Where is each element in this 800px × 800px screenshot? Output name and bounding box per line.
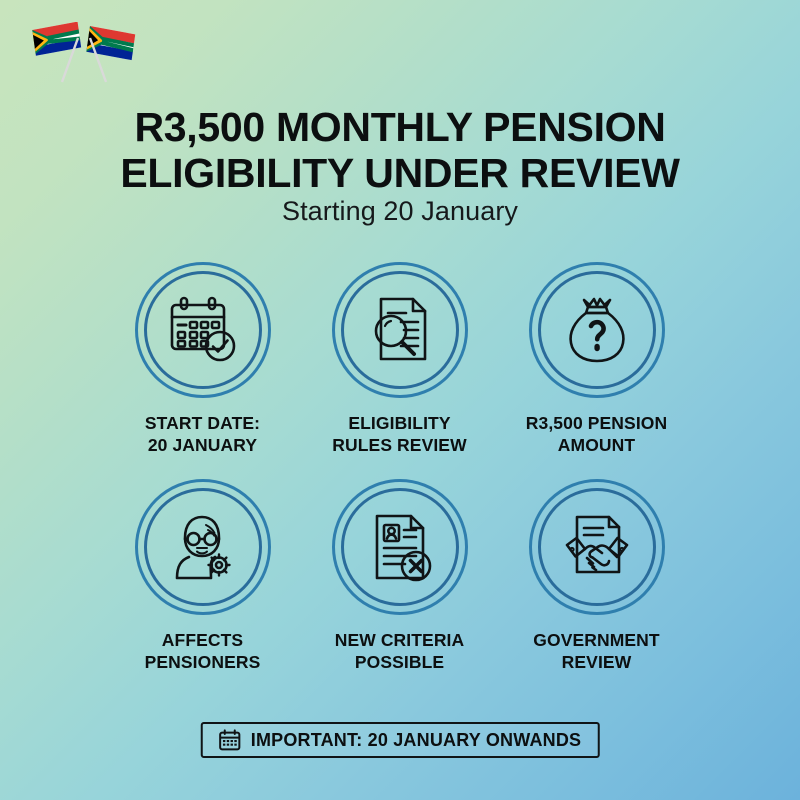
page-title: R3,500 MONTHLY PENSION ELIGIBILITY UNDER… <box>60 105 740 195</box>
feature-caption: START DATE: 20 JANUARY <box>145 412 260 457</box>
feature-caption: ELIGIBILITY RULES REVIEW <box>332 412 466 457</box>
feature-card-new-criteria: NEW CRITERIA POSSIBLE <box>301 479 498 674</box>
elderly-person-gear-icon <box>164 508 242 586</box>
icon-badge <box>332 479 468 615</box>
money-bag-question-icon <box>558 291 636 369</box>
calendar-icon <box>219 729 241 751</box>
infographic-poster: R3,500 MONTHLY PENSION ELIGIBILITY UNDER… <box>0 0 800 800</box>
feature-caption: AFFECTS PENSIONERS <box>145 629 261 674</box>
icon-badge <box>529 262 665 398</box>
feature-grid: START DATE: 20 JANUARY <box>104 262 696 674</box>
feature-card-government-review: GOVERNMENT REVIEW <box>498 479 695 674</box>
banner-text: IMPORTANT: 20 JANUARY ONWANDS <box>251 730 582 751</box>
feature-card-start-date: START DATE: 20 JANUARY <box>104 262 301 457</box>
feature-caption: GOVERNMENT REVIEW <box>533 629 659 674</box>
feature-caption: NEW CRITERIA POSSIBLE <box>335 629 465 674</box>
calendar-check-icon <box>164 291 242 369</box>
feature-card-pension-amount: R3,500 PENSION AMOUNT <box>498 262 695 457</box>
important-date-banner: IMPORTANT: 20 JANUARY ONWANDS <box>201 722 600 758</box>
feature-card-affects-pensioners: AFFECTS PENSIONERS <box>104 479 301 674</box>
feature-caption: R3,500 PENSION AMOUNT <box>526 412 667 457</box>
page-subtitle: Starting 20 January <box>60 196 740 227</box>
title-line-1: R3,500 MONTHLY PENSION <box>60 105 740 150</box>
icon-badge <box>135 479 271 615</box>
crossed-south-african-flags-icon <box>28 22 144 86</box>
icon-badge <box>332 262 468 398</box>
document-person-cross-icon <box>361 508 439 586</box>
icon-badge <box>135 262 271 398</box>
document-magnifier-icon <box>361 291 439 369</box>
icon-badge <box>529 479 665 615</box>
feature-card-eligibility-rules: ELIGIBILITY RULES REVIEW <box>301 262 498 457</box>
title-line-2: ELIGIBILITY UNDER REVIEW <box>60 151 740 196</box>
handshake-document-icon <box>558 508 636 586</box>
